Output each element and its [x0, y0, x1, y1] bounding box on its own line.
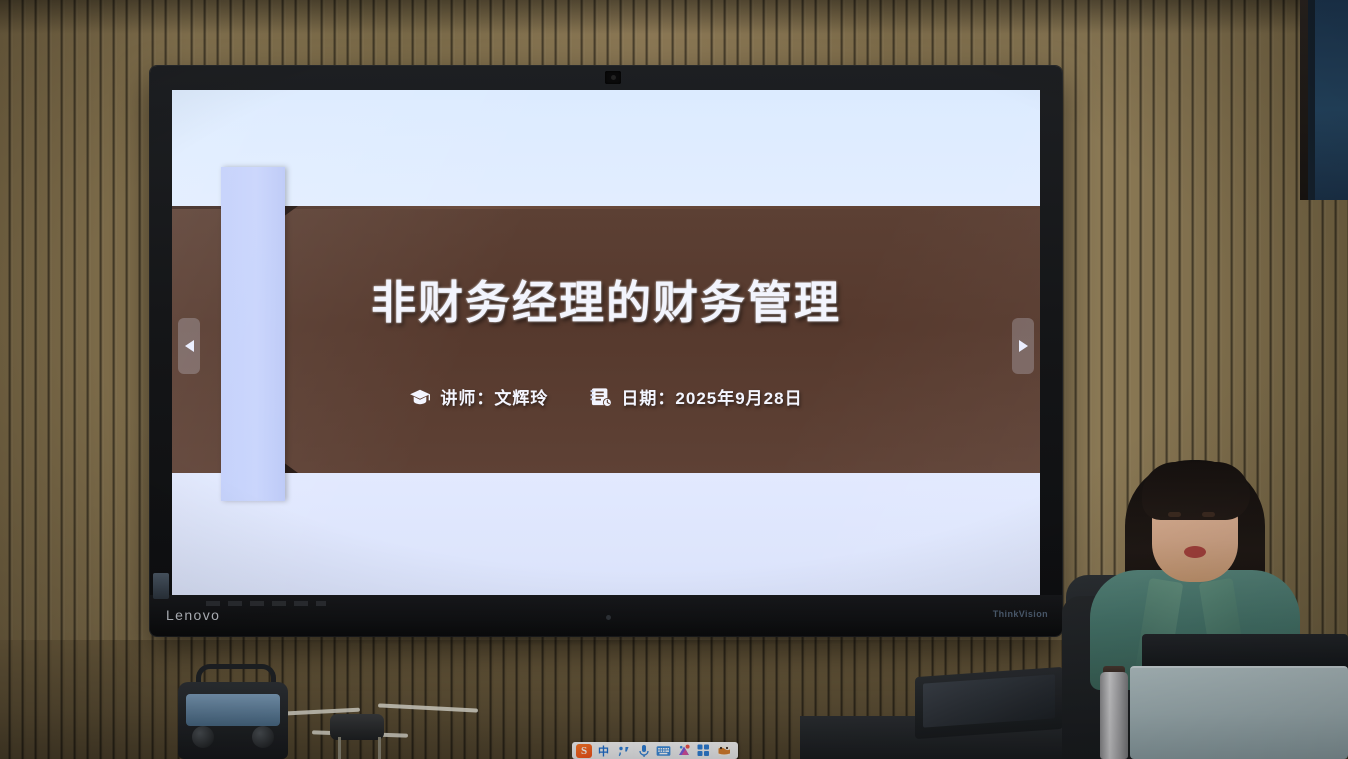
next-slide-arrow[interactable]	[1012, 318, 1034, 374]
toolbox-icon[interactable]	[695, 743, 712, 758]
drone-leg	[378, 737, 381, 759]
slide-title-band	[172, 206, 1040, 473]
chevron-left-icon	[185, 340, 194, 352]
chinese-mode-icon[interactable]: 中	[595, 743, 612, 758]
drone-leg	[338, 737, 341, 759]
laptop-screen	[923, 674, 1055, 727]
skin-theme-icon[interactable]	[675, 743, 692, 758]
presenter-eye-left	[1168, 512, 1181, 517]
controller-stick-right	[252, 726, 274, 748]
ceiling-shadow	[0, 0, 1348, 34]
graduation-cap-icon	[409, 388, 431, 406]
voice-input-icon[interactable]	[635, 743, 652, 758]
water-bottle	[1100, 672, 1128, 759]
slide-meta-row: 讲师：文辉玲	[172, 384, 1040, 409]
webcam-lens	[611, 75, 616, 80]
laptop-computer	[915, 667, 1063, 739]
emoji-icon[interactable]	[715, 743, 732, 758]
slide-accent-bar	[221, 167, 285, 501]
quadcopter-drone	[268, 692, 518, 759]
date-group: 日期：2025年9月28日	[590, 384, 802, 409]
webcam-icon	[605, 71, 621, 84]
date-label: 日期：2025年9月28日	[621, 384, 802, 409]
chevron-right-icon	[1019, 340, 1028, 352]
monitor-screen[interactable]: 非财务经理的财务管理 讲师：文辉玲	[172, 90, 1040, 595]
drone-propeller	[378, 703, 478, 712]
instructor-label: 讲师：文辉玲	[440, 384, 548, 409]
presenter-fringe	[1142, 462, 1250, 520]
lenovo-brand-label: Lenovo	[166, 607, 220, 623]
sogou-input-toolbar[interactable]: S 中	[572, 742, 738, 759]
controller-stick-left	[192, 726, 214, 748]
prev-slide-arrow[interactable]	[178, 318, 200, 374]
controller-display-panel	[186, 694, 280, 726]
soft-keyboard-icon[interactable]	[655, 743, 672, 758]
side-wall-panel	[1308, 0, 1348, 200]
slide-title: 非财务经理的财务管理	[172, 266, 1040, 331]
instructor-group: 讲师：文辉玲	[409, 384, 548, 409]
thinkvision-brand-label: ThinkVision	[993, 609, 1048, 619]
power-led	[606, 615, 611, 620]
podium-panel: WEIX 威信培	[1130, 666, 1348, 759]
bezel-side-tag	[153, 573, 169, 599]
sogou-logo-icon[interactable]: S	[576, 744, 592, 758]
presenter-eye-right	[1202, 512, 1215, 517]
monitor-bottom-bezel: Lenovo ThinkVision	[150, 595, 1062, 636]
presenter-mouth	[1184, 546, 1206, 558]
bezel-vent-ports	[206, 601, 326, 606]
calendar-icon	[590, 387, 612, 407]
presentation-slide[interactable]: 非财务经理的财务管理 讲师：文辉玲	[172, 90, 1040, 595]
band-top-edge	[172, 206, 1040, 209]
punctuation-toggle-icon[interactable]	[615, 743, 632, 758]
monitor-top-bezel	[150, 66, 1062, 90]
wall-edge-strip	[1300, 0, 1308, 200]
display-monitor[interactable]: 非财务经理的财务管理 讲师：文辉玲	[150, 66, 1062, 636]
